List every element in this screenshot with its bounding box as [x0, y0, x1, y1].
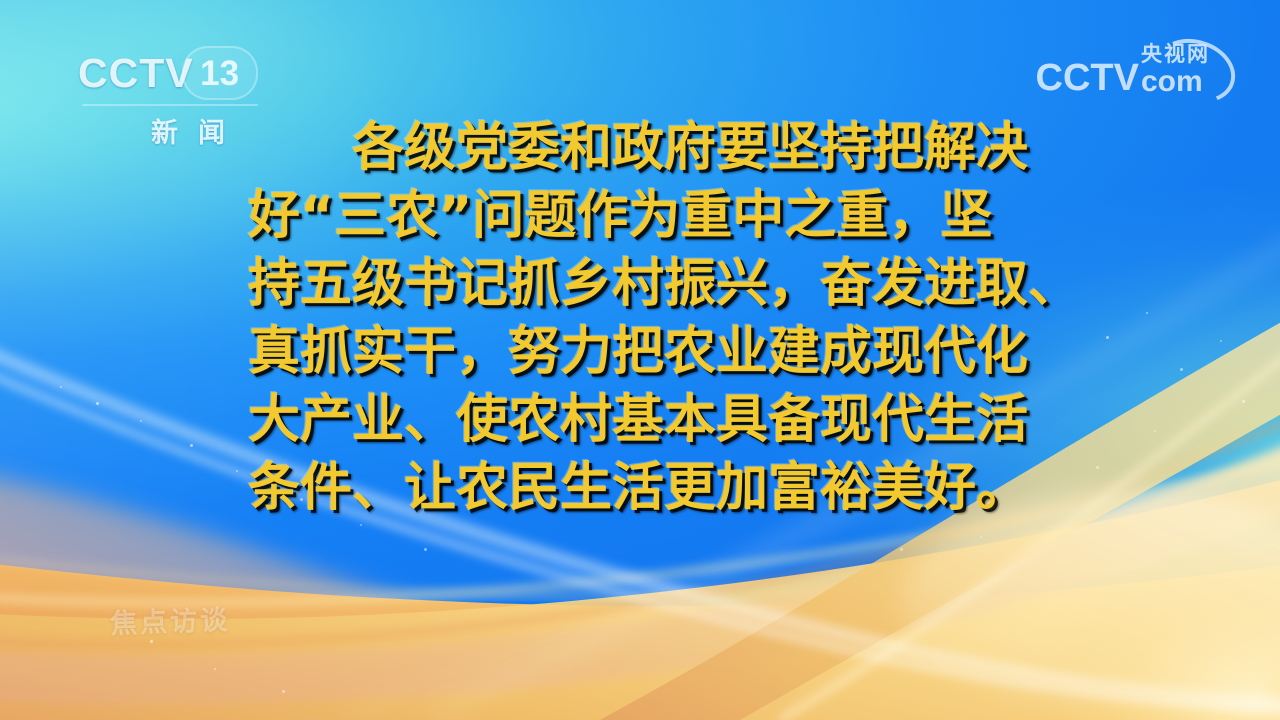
quote-line: 好“三农”问题作为重中之重，坚: [248, 182, 1048, 250]
broadcast-frame: CCTV 13 新闻 CCTV 央视网 com 焦点访谈 各级党委和政府要坚持把…: [0, 0, 1280, 720]
channel-number: 13: [200, 56, 239, 91]
channel-logo-underline: [82, 104, 258, 106]
cctv-com-watermark: CCTV 央视网 com: [1036, 44, 1210, 97]
cctvcom-wordmark: CCTV: [1036, 59, 1139, 97]
quote-line: 条件、让农民生活更加富裕美好。: [248, 454, 1048, 522]
quote-line: 持五级书记抓乡村振兴，奋发进取、: [248, 250, 1048, 318]
quote-text-block: 各级党委和政府要坚持把解决 好“三农”问题作为重中之重，坚 持五级书记抓乡村振兴…: [248, 114, 1048, 522]
channel-number-capsule: 13: [182, 46, 258, 100]
quote-line: 各级党委和政府要坚持把解决: [248, 114, 1048, 182]
program-title-watermark: 焦点访谈: [109, 598, 230, 641]
channel-logo-row: CCTV 13: [78, 46, 288, 100]
quote-line: 真抓实干，努力把农业建成现代化: [248, 318, 1048, 386]
quote-line: 大产业、使农村基本具备现代生活: [248, 386, 1048, 454]
cctv-wordmark: CCTV: [78, 53, 194, 94]
